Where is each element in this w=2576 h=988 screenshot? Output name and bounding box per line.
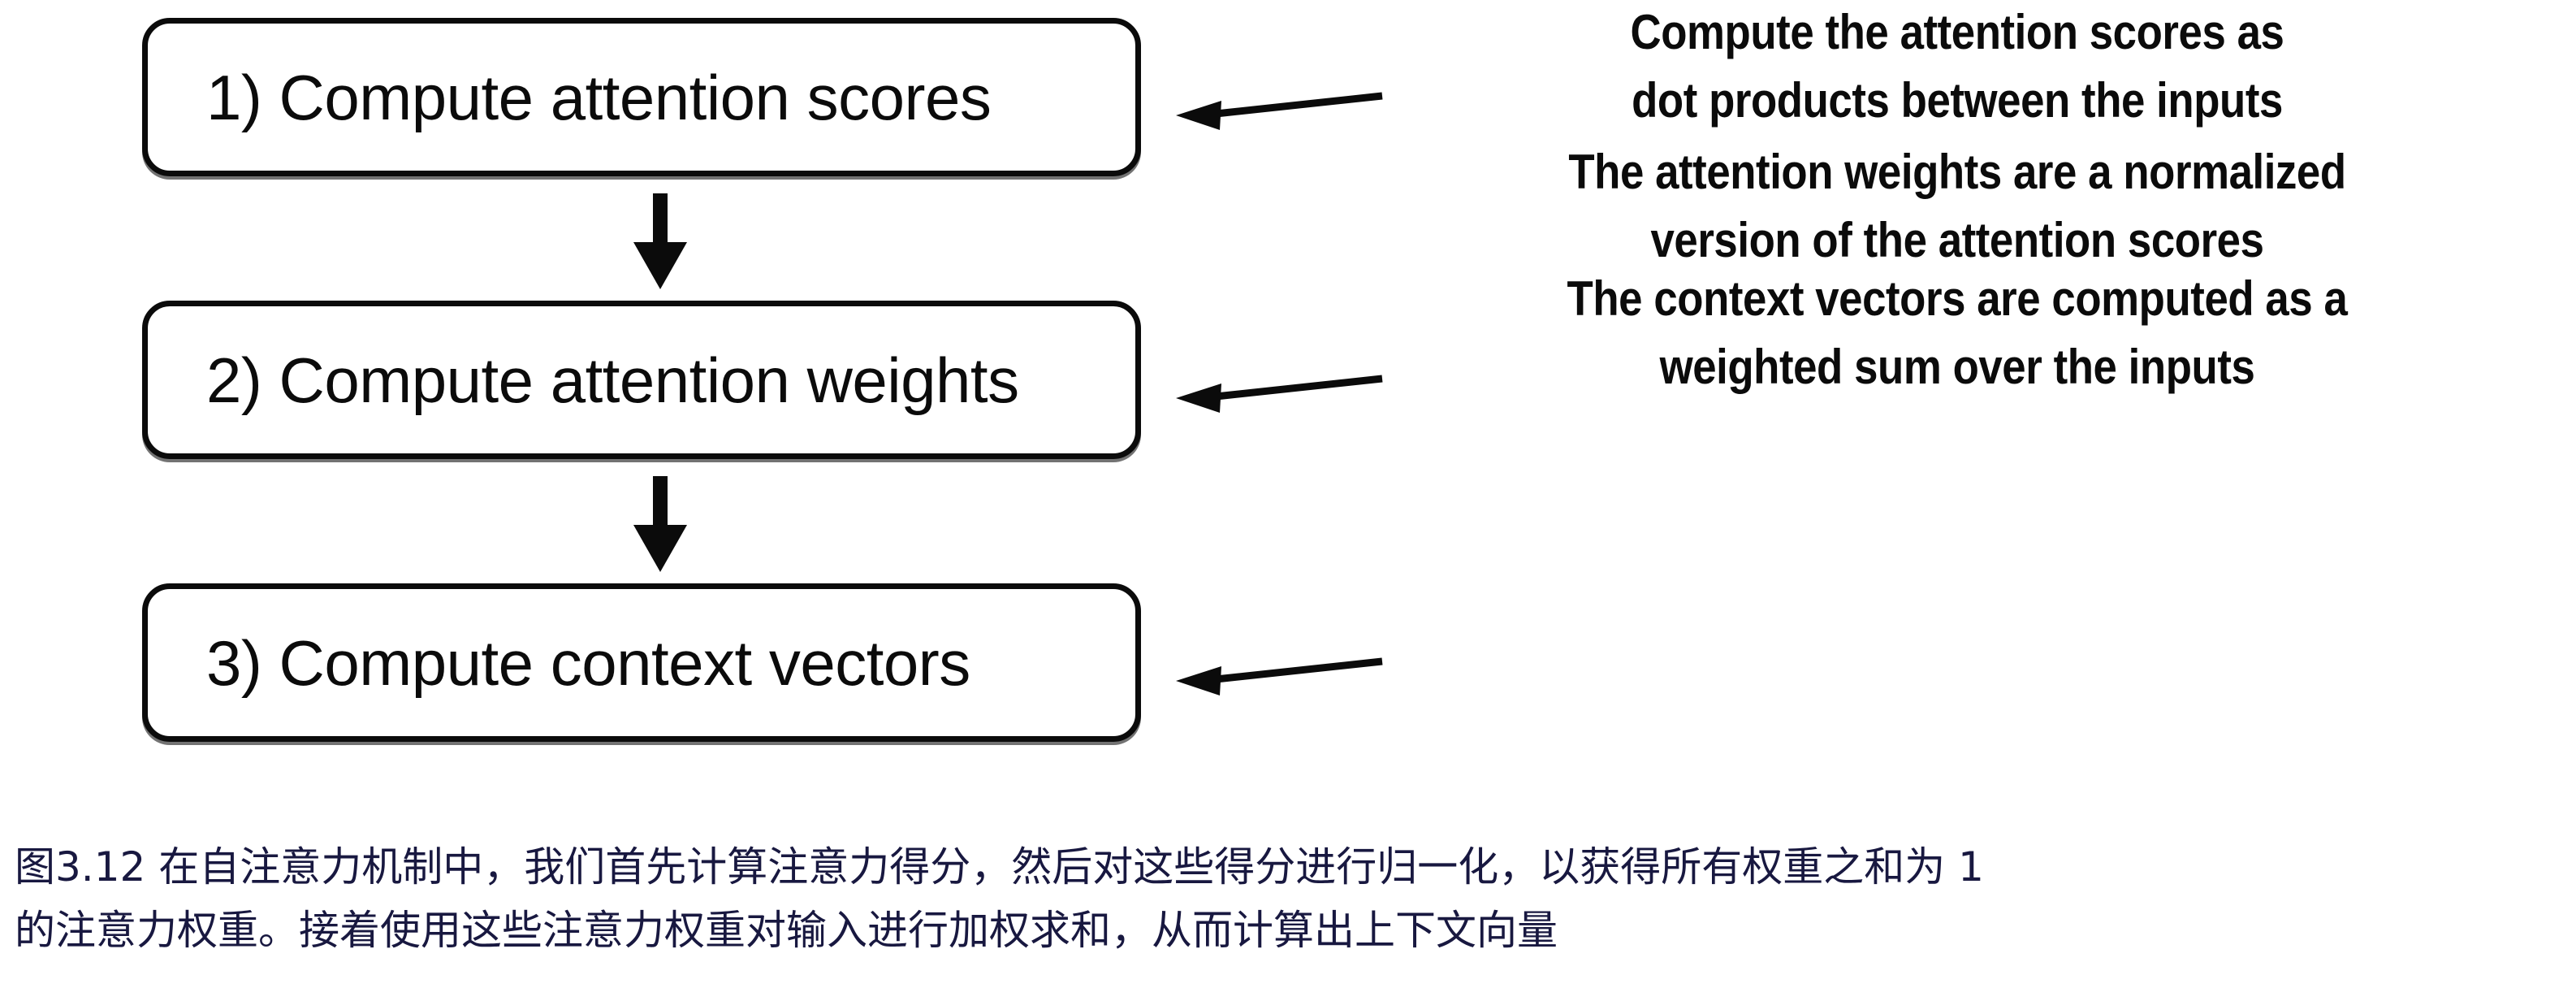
figure-caption-line: 图3.12 在自注意力机制中，我们首先计算注意力得分，然后对这些得分进行归一化，… <box>15 835 2565 899</box>
left-arrow-icon <box>1169 364 1389 421</box>
left-arrow-icon <box>1169 647 1389 704</box>
step-box-label: 2) Compute attention weights <box>148 349 1019 412</box>
annotation-attention-scores: Compute the attention scores as dot prod… <box>1478 8 2436 125</box>
annotation-line: weighted sum over the inputs <box>1478 343 2436 392</box>
step-box-compute-attention-weights[interactable]: 2) Compute attention weights <box>142 301 1141 459</box>
step-box-label: 3) Compute context vectors <box>148 631 970 695</box>
attention-flow-diagram: 1) Compute attention scores 2) Compute a… <box>0 0 2576 780</box>
down-arrow-icon <box>624 193 697 291</box>
annotation-line: The attention weights are a normalized <box>1478 148 2436 197</box>
annotation-context-vectors: The context vectors are computed as a we… <box>1478 275 2436 392</box>
annotation-attention-weights: The attention weights are a normalized v… <box>1478 148 2436 265</box>
step-box-label: 1) Compute attention scores <box>148 66 991 129</box>
annotation-line: The context vectors are computed as a <box>1478 275 2436 323</box>
left-arrow-icon <box>1169 81 1389 138</box>
down-arrow-icon <box>624 476 697 574</box>
figure-caption: 图3.12 在自注意力机制中，我们首先计算注意力得分，然后对这些得分进行归一化，… <box>15 835 2565 962</box>
step-box-compute-attention-scores[interactable]: 1) Compute attention scores <box>142 18 1141 176</box>
annotation-line: dot products between the inputs <box>1478 76 2436 125</box>
annotation-line: version of the attention scores <box>1478 216 2436 265</box>
figure-caption-line: 的注意力权重。接着使用这些注意力权重对输入进行加权求和，从而计算出上下文向量 <box>15 899 2565 962</box>
step-box-compute-context-vectors[interactable]: 3) Compute context vectors <box>142 583 1141 742</box>
annotation-line: Compute the attention scores as <box>1478 8 2436 57</box>
